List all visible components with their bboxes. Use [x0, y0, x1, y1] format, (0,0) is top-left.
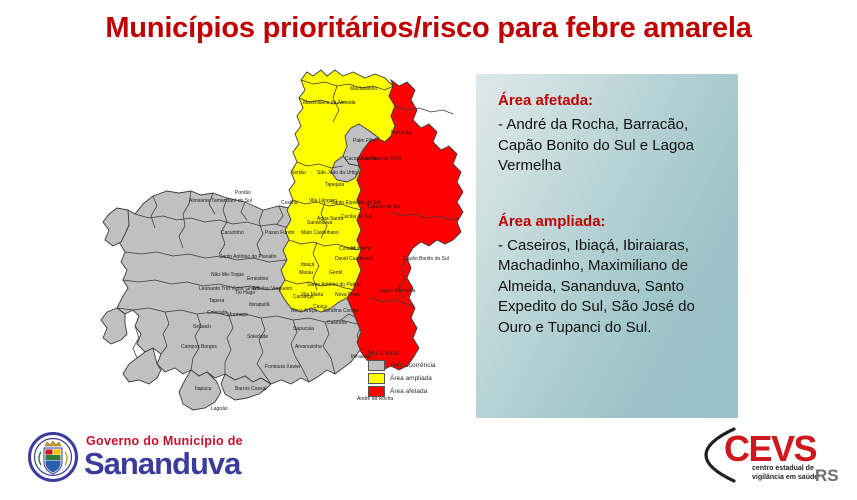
svg-text:São José do Ouro: São José do Ouro	[361, 156, 402, 162]
svg-text:Cecília do Sul: Cecília do Sul	[341, 214, 372, 220]
sananduva-logo: Governo do Município de Sananduva	[28, 430, 278, 486]
svg-text:Lagoa Vermelha: Lagoa Vermelha	[379, 288, 416, 294]
svg-text:Serafina Corrêa: Serafina Corrêa	[323, 308, 359, 314]
svg-text:Campos Borges: Campos Borges	[181, 344, 217, 350]
affected-area-block: Área afetada: - André da Rocha, Barracão…	[498, 92, 722, 177]
affected-area-heading: Área afetada:	[498, 92, 722, 109]
legend-item-area-afetada: Área afetada	[368, 386, 480, 397]
svg-text:Tapejara: Tapejara	[325, 182, 344, 188]
svg-text:Vila Lângaro: Vila Lângaro	[309, 198, 337, 204]
svg-text:Paim Filho: Paim Filho	[353, 138, 377, 144]
svg-text:Capão Bonito do Sul: Capão Bonito do Sul	[403, 256, 449, 262]
expanded-area-block: Área ampliada: - Caseiros, Ibiaçá, Ibira…	[498, 213, 722, 339]
cevs-tagline: centro estadual de vigilância em saúde	[752, 465, 818, 482]
svg-text:Nova Prata: Nova Prata	[335, 292, 360, 298]
legend-swatch-gray	[368, 360, 385, 371]
svg-text:Camargo: Camargo	[293, 294, 314, 300]
svg-text:Santo Antônio do Planalto: Santo Antônio do Planalto	[219, 254, 277, 260]
svg-text:Tupanci do Sul: Tupanci do Sul	[367, 204, 400, 210]
cevs-logo: CEVS centro estadual de vigilância em sa…	[700, 428, 850, 488]
svg-text:Mato Castelhano: Mato Castelhano	[301, 230, 339, 236]
svg-text:Ibirapuitã: Ibirapuitã	[249, 302, 270, 308]
svg-text:Selbach: Selbach	[193, 324, 211, 330]
svg-text:Coxilha: Coxilha	[281, 200, 298, 206]
svg-text:Água Santa: Água Santa	[317, 215, 343, 222]
expanded-area-heading: Área ampliada:	[498, 213, 722, 230]
svg-text:Gentil: Gentil	[329, 270, 342, 276]
svg-text:Barracão: Barracão	[391, 130, 412, 136]
svg-text:São João da Urtiga: São João da Urtiga	[317, 170, 360, 176]
cevs-acronym: CEVS	[724, 428, 816, 470]
svg-text:Colorado: Colorado	[207, 310, 228, 316]
page-title: Municípios prioritários/risco para febre…	[0, 12, 857, 45]
info-panel: Área afetada: - André da Rocha, Barracão…	[476, 74, 738, 418]
cevs-tagline-line2: vigilância em saúde	[752, 474, 818, 483]
svg-text:Arvorezinha: Arvorezinha	[295, 344, 322, 350]
svg-text:Pontão: Pontão	[235, 190, 251, 196]
affected-area-text: - André da Rocha, Barracão, Capão Bonito…	[498, 115, 722, 177]
svg-text:Casca: Casca	[313, 304, 327, 310]
map-legend: Municípios Sem ocorrência Área ampliada …	[368, 350, 480, 399]
svg-text:Passo Fundo: Passo Fundo	[265, 230, 295, 236]
expanded-area-text: - Caseiros, Ibiaçá, Ibiraiaras, Machadin…	[498, 236, 722, 339]
svg-text:Não-Me-Toque: Não-Me-Toque	[211, 272, 244, 278]
svg-text:Santo Antônio do Palma: Santo Antônio do Palma	[307, 282, 361, 288]
legend-swatch-yellow	[368, 373, 385, 384]
legend-swatch-red	[368, 386, 385, 397]
svg-text:Mormaço: Mormaço	[227, 312, 248, 318]
legend-item-sem-ocorrencia: Sem ocorrência	[368, 360, 480, 371]
svg-text:Sapucaia: Sapucaia	[293, 326, 314, 332]
legend-item-area-ampliada: Área ampliada	[368, 373, 480, 384]
svg-text:Sertão: Sertão	[291, 170, 306, 176]
svg-text:Ibiaçá: Ibiaçá	[301, 262, 315, 268]
map-figure: Machadinho Maximiliano de Almeida Paim F…	[95, 62, 480, 417]
svg-text:Fontoura Xavier: Fontoura Xavier	[265, 364, 301, 370]
legend-label-area-afetada: Área afetada	[390, 387, 427, 396]
cevs-state: RS	[815, 466, 839, 486]
sananduva-name: Sananduva	[84, 446, 240, 482]
sananduva-crest-icon	[28, 432, 78, 482]
cevs-tagline-line1: centro estadual de	[752, 465, 818, 474]
svg-text:Maximiliano de Almeida: Maximiliano de Almeida	[303, 100, 356, 106]
legend-label-area-ampliada: Área ampliada	[390, 374, 432, 383]
svg-text:Muliterno: Muliterno	[351, 246, 372, 252]
svg-text:Soledade: Soledade	[247, 334, 268, 340]
svg-text:David Canabarro: David Canabarro	[335, 256, 373, 262]
svg-text:Tapera: Tapera	[209, 298, 225, 304]
svg-text:Machadinho: Machadinho	[350, 86, 377, 92]
svg-text:Marau: Marau	[299, 270, 313, 276]
svg-text:Carazinho: Carazinho	[221, 230, 244, 236]
svg-text:Almirante Tamandaré do Sul: Almirante Tamandaré do Sul	[189, 198, 252, 204]
svg-text:Lagoão: Lagoão	[211, 406, 228, 412]
legend-title: Municípios	[368, 350, 480, 357]
svg-text:Caseiros: Caseiros	[327, 320, 347, 326]
svg-text:Itapuca: Itapuca	[195, 386, 212, 392]
svg-text:Barros Cassal: Barros Cassal	[235, 386, 266, 392]
legend-label-sem-ocorrencia: Sem ocorrência	[390, 361, 436, 370]
svg-text:Ernestina: Ernestina	[247, 276, 268, 282]
svg-text:Tio Hugo: Tio Hugo	[235, 290, 255, 296]
